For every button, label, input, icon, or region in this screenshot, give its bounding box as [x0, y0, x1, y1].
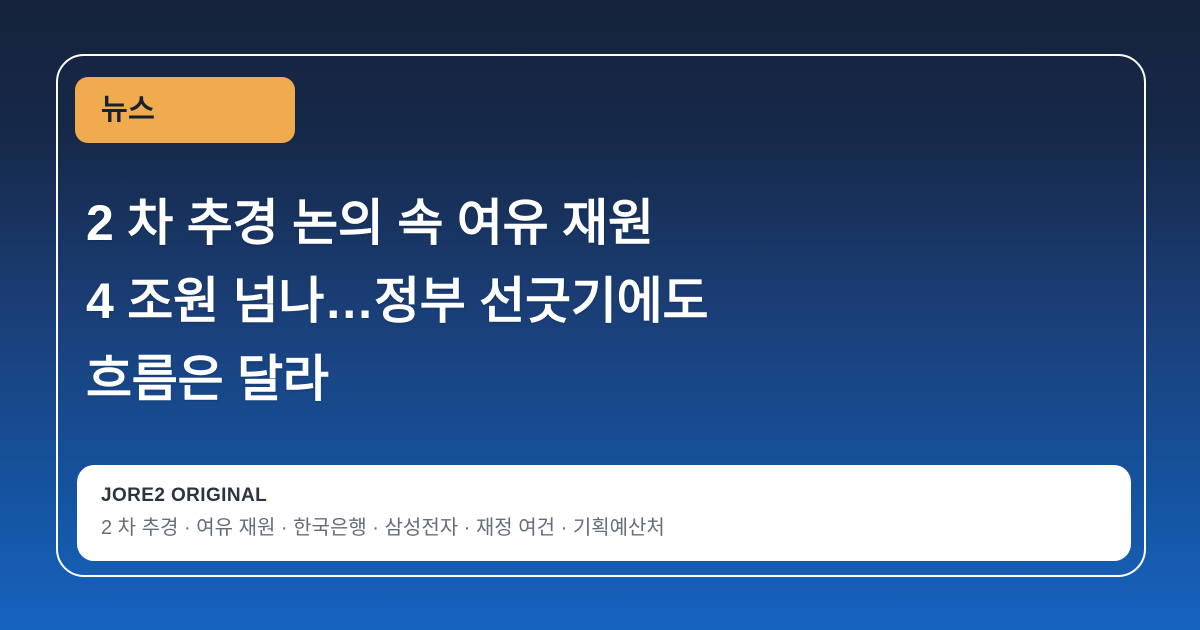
- badge-row: 뉴스: [75, 77, 295, 143]
- headline-title: 2 차 추경 논의 속 여유 재원 4 조원 넘나…정부 선긋기에도 흐름은 달…: [86, 184, 1046, 418]
- category-badge[interactable]: 뉴스: [75, 77, 295, 143]
- brand-label: JORE2 ORIGINAL: [101, 484, 1107, 508]
- footer-card: JORE2 ORIGINAL 2 차 추경 · 여유 재원 · 한국은행 · 삼…: [77, 465, 1131, 561]
- content-card: 뉴스 2 차 추경 논의 속 여유 재원 4 조원 넘나…정부 선긋기에도 흐름…: [56, 54, 1146, 577]
- og-image-canvas: 뉴스 2 차 추경 논의 속 여유 재원 4 조원 넘나…정부 선긋기에도 흐름…: [0, 0, 1200, 630]
- tag-list: 2 차 추경 · 여유 재원 · 한국은행 · 삼성전자 · 재정 여건 · 기…: [101, 515, 1107, 541]
